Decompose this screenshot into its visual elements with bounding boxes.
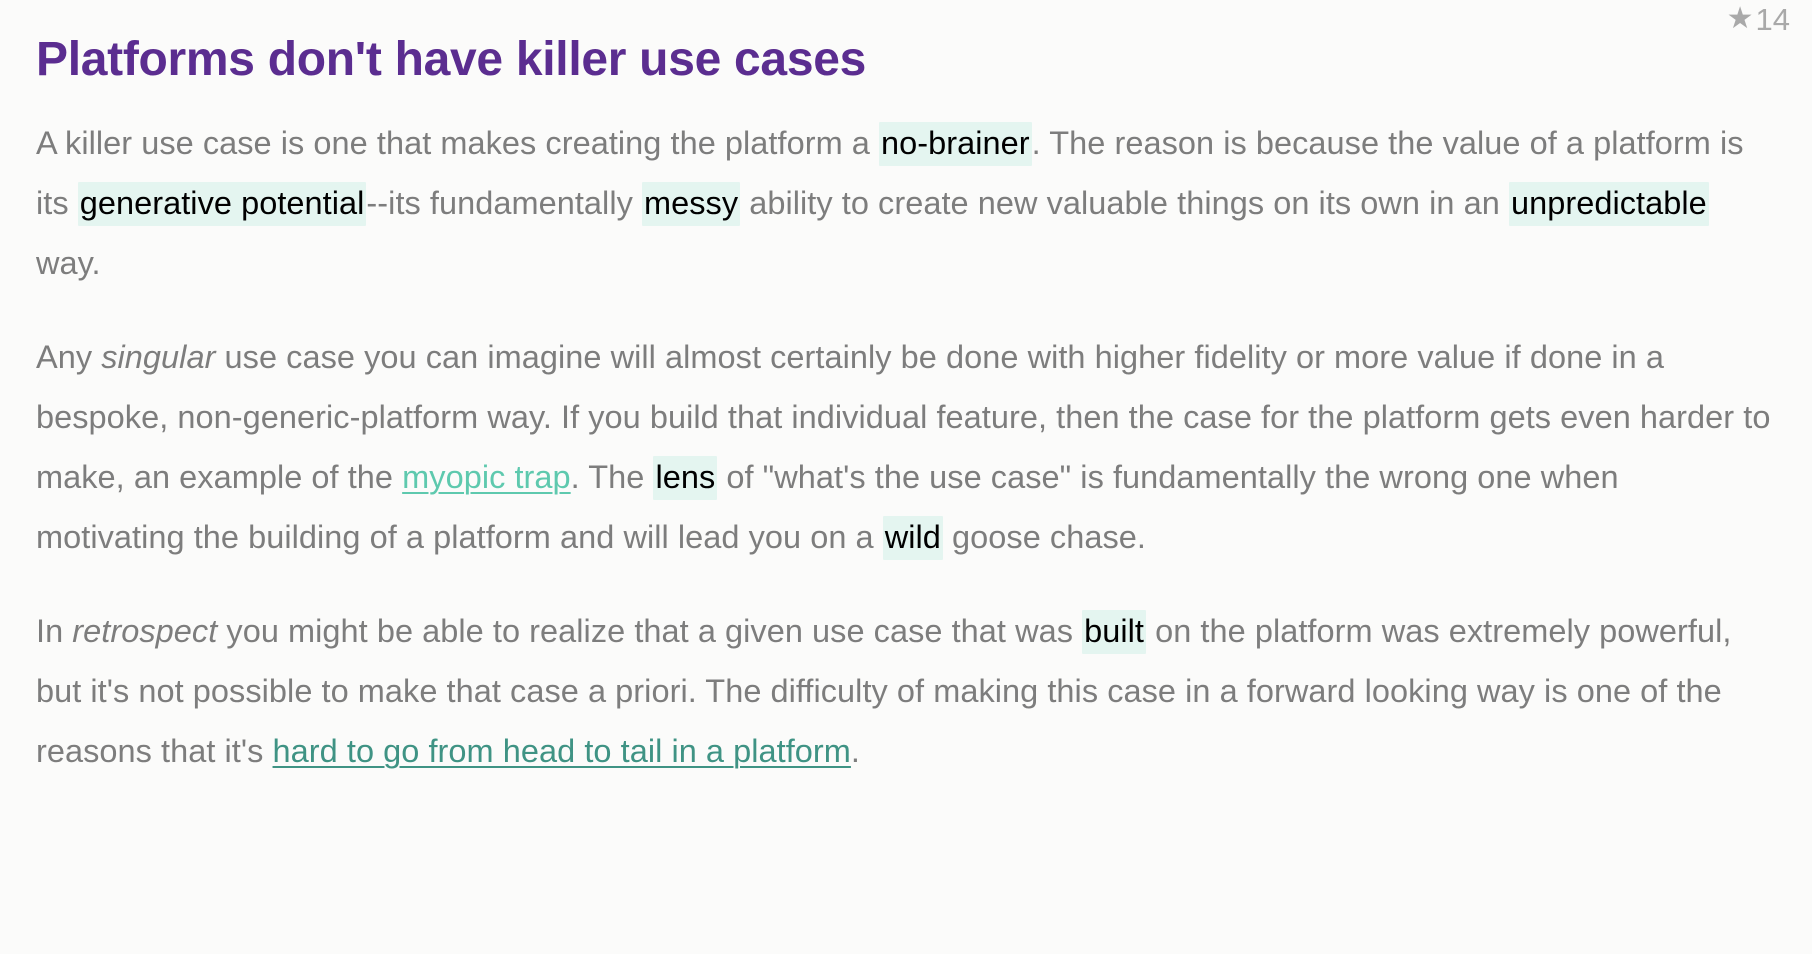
inline-link-myopic-trap[interactable]: myopic trap	[402, 459, 571, 495]
article-body: A killer use case is one that makes crea…	[36, 113, 1776, 781]
highlighted-text: no-brainer	[879, 122, 1032, 166]
highlighted-text: lens	[653, 456, 717, 500]
star-icon: ★	[1727, 4, 1754, 34]
body-text: ability to create new valuable things on…	[740, 185, 1509, 221]
highlighted-text: unpredictable	[1509, 182, 1709, 226]
body-text: goose chase.	[943, 519, 1146, 555]
body-text: way.	[36, 245, 101, 281]
highlighted-text: messy	[642, 182, 740, 226]
inline-link-head-to-tail[interactable]: hard to go from head to tail in a platfo…	[273, 733, 851, 769]
emphasis-text: retrospect	[72, 613, 217, 649]
body-text: In	[36, 613, 72, 649]
body-text: A killer use case is one that makes crea…	[36, 125, 879, 161]
emphasis-text: singular	[101, 339, 215, 375]
paragraph-3: In retrospect you might be able to reali…	[36, 601, 1776, 781]
body-text: --its fundamentally	[366, 185, 642, 221]
body-text: Any	[36, 339, 101, 375]
page-title: Platforms don't have killer use cases	[36, 0, 1776, 87]
paragraph-2: Any singular use case you can imagine wi…	[36, 327, 1776, 567]
body-text: . The	[571, 459, 654, 495]
highlighted-text: wild	[883, 516, 943, 560]
star-count-badge[interactable]: ★ 14	[1727, 4, 1790, 35]
body-text: .	[851, 733, 860, 769]
star-count-label: 14	[1756, 4, 1790, 35]
body-text: you might be able to realize that a give…	[217, 613, 1082, 649]
highlighted-text: built	[1082, 610, 1146, 654]
paragraph-1: A killer use case is one that makes crea…	[36, 113, 1776, 293]
article-page: ★ 14 Platforms don't have killer use cas…	[0, 0, 1812, 954]
highlighted-text: generative potential	[78, 182, 367, 226]
